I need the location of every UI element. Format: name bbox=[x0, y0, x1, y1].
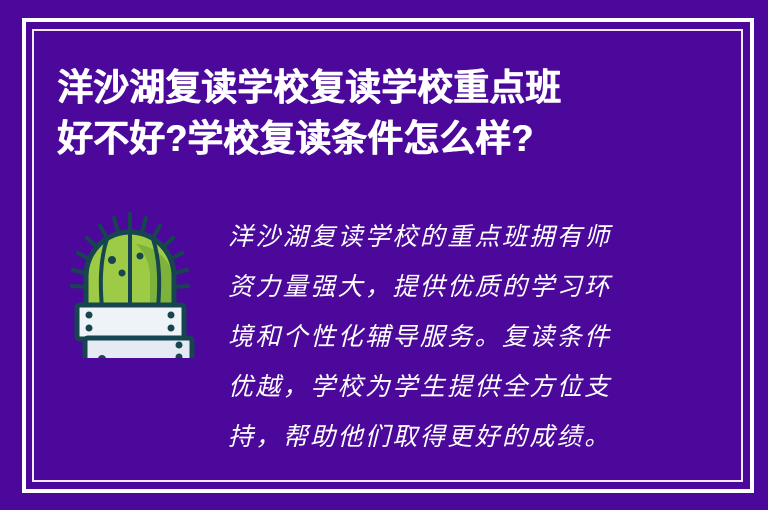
poster-canvas: 洋沙湖复读学校复读学校重点班 好不好?学校复读条件怎么样? bbox=[0, 0, 768, 510]
body-line-1: 洋沙湖复读学校的重点班拥有师 bbox=[228, 212, 646, 262]
body-line-5: 持，帮助他们取得更好的成绩。 bbox=[228, 412, 646, 462]
body-line-4: 优越，学校为学生提供全方位支 bbox=[228, 362, 646, 412]
title-line-1: 洋沙湖复读学校复读学校重点班 bbox=[57, 62, 681, 113]
cactus-icon bbox=[62, 212, 198, 358]
body-paragraph: 洋沙湖复读学校的重点班拥有师 资力量强大，提供优质的学习环 境和个性化辅导服务。… bbox=[228, 212, 646, 462]
body-line-3: 境和个性化辅导服务。复读条件 bbox=[228, 312, 646, 362]
page-title: 洋沙湖复读学校复读学校重点班 好不好?学校复读条件怎么样? bbox=[57, 62, 707, 164]
title-line-2: 好不好?学校复读条件怎么样? bbox=[57, 113, 681, 164]
body-line-2: 资力量强大，提供优质的学习环 bbox=[228, 262, 646, 312]
